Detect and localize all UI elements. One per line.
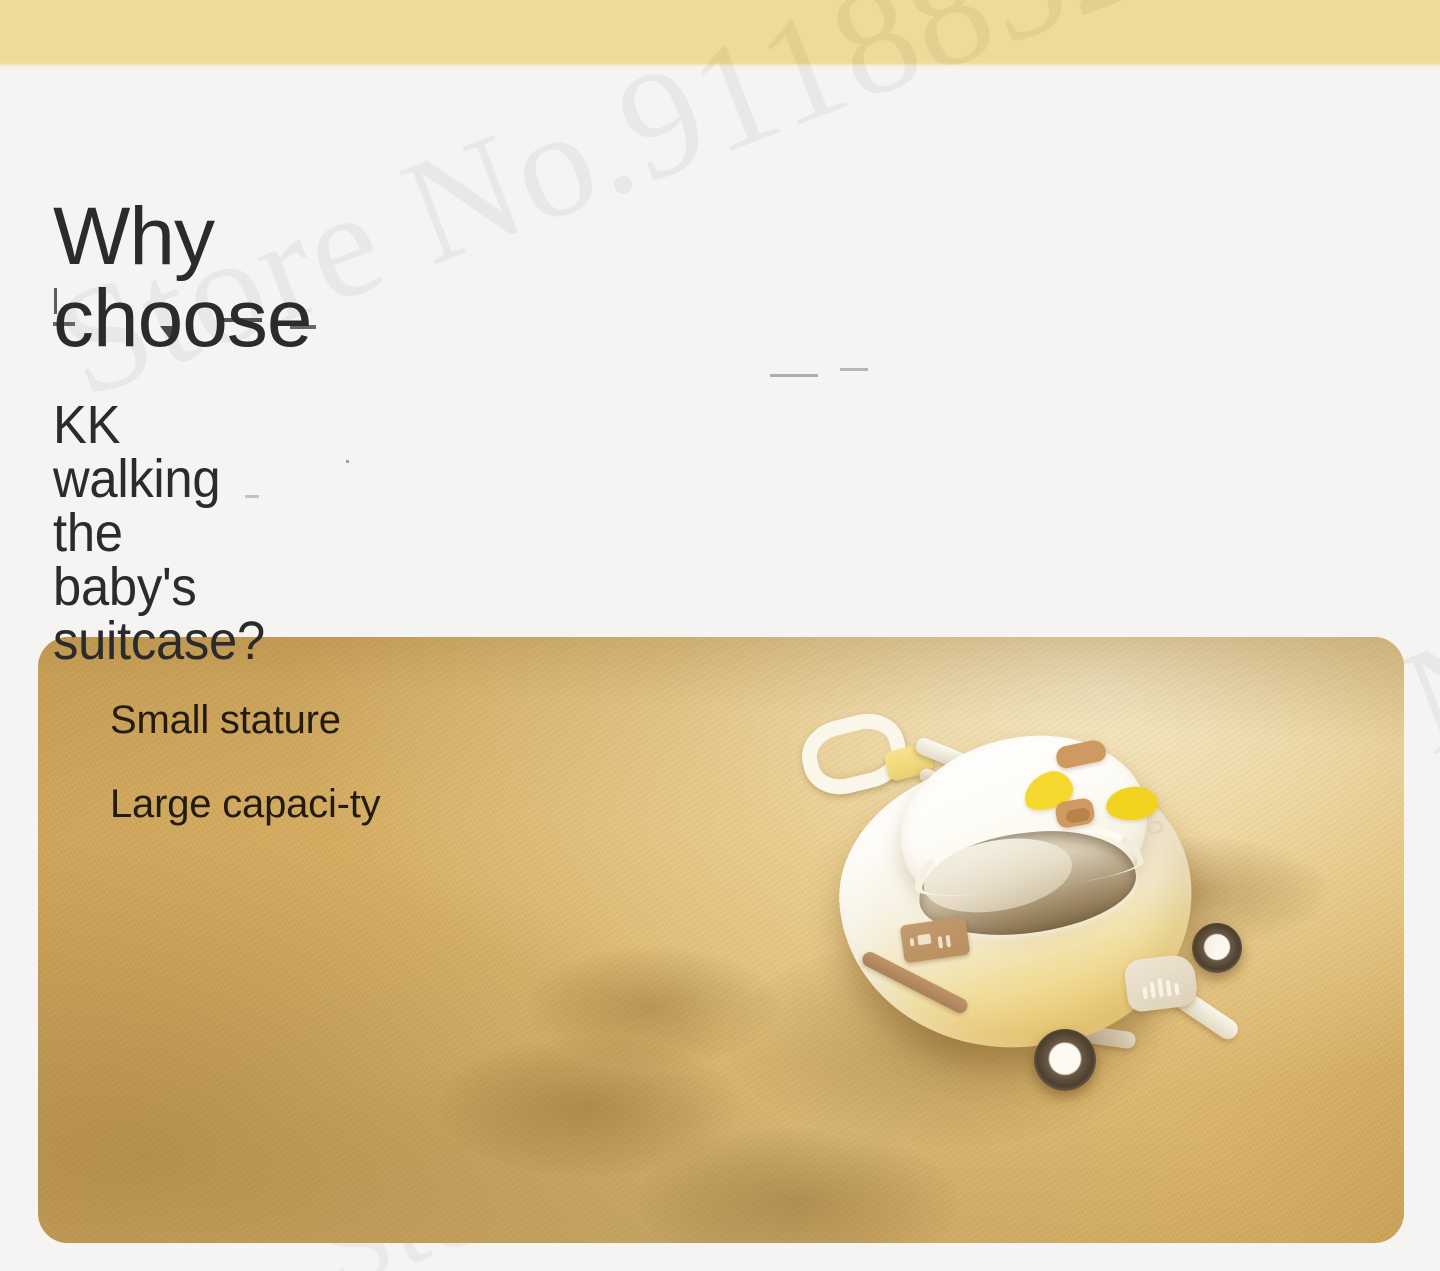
product-photo-card[interactable]: Small stature Large capaci-ty	[38, 637, 1404, 1243]
text-artifact	[54, 288, 57, 314]
suitcase-grip-pad	[1123, 953, 1199, 1013]
text-artifact	[220, 318, 262, 322]
object-shadow	[528, 947, 778, 1067]
text-artifact	[160, 326, 178, 338]
caption-large-capacity: Large capaci-ty	[110, 779, 430, 830]
page-subtitle: KK walking the baby's suitcase?	[53, 398, 265, 668]
top-accent-band-fade	[0, 63, 1440, 69]
page-title: Why choose	[53, 196, 311, 360]
text-artifact	[53, 322, 75, 326]
text-artifact	[840, 368, 868, 371]
kids-ride-on-suitcase	[794, 709, 1264, 1109]
suitcase-wheel-front	[1034, 1029, 1096, 1091]
text-artifact	[770, 374, 818, 377]
suitcase-wheel-rear	[1192, 923, 1242, 973]
caption-small-stature: Small stature	[110, 699, 430, 741]
card-caption: Small stature Large capaci-ty	[110, 699, 430, 830]
product-detail-page: Store No.911885200 Store No.911885200 St…	[0, 0, 1440, 1271]
text-artifact	[290, 325, 316, 329]
text-artifact	[346, 460, 349, 463]
top-accent-band	[0, 0, 1440, 66]
text-artifact	[245, 495, 259, 498]
